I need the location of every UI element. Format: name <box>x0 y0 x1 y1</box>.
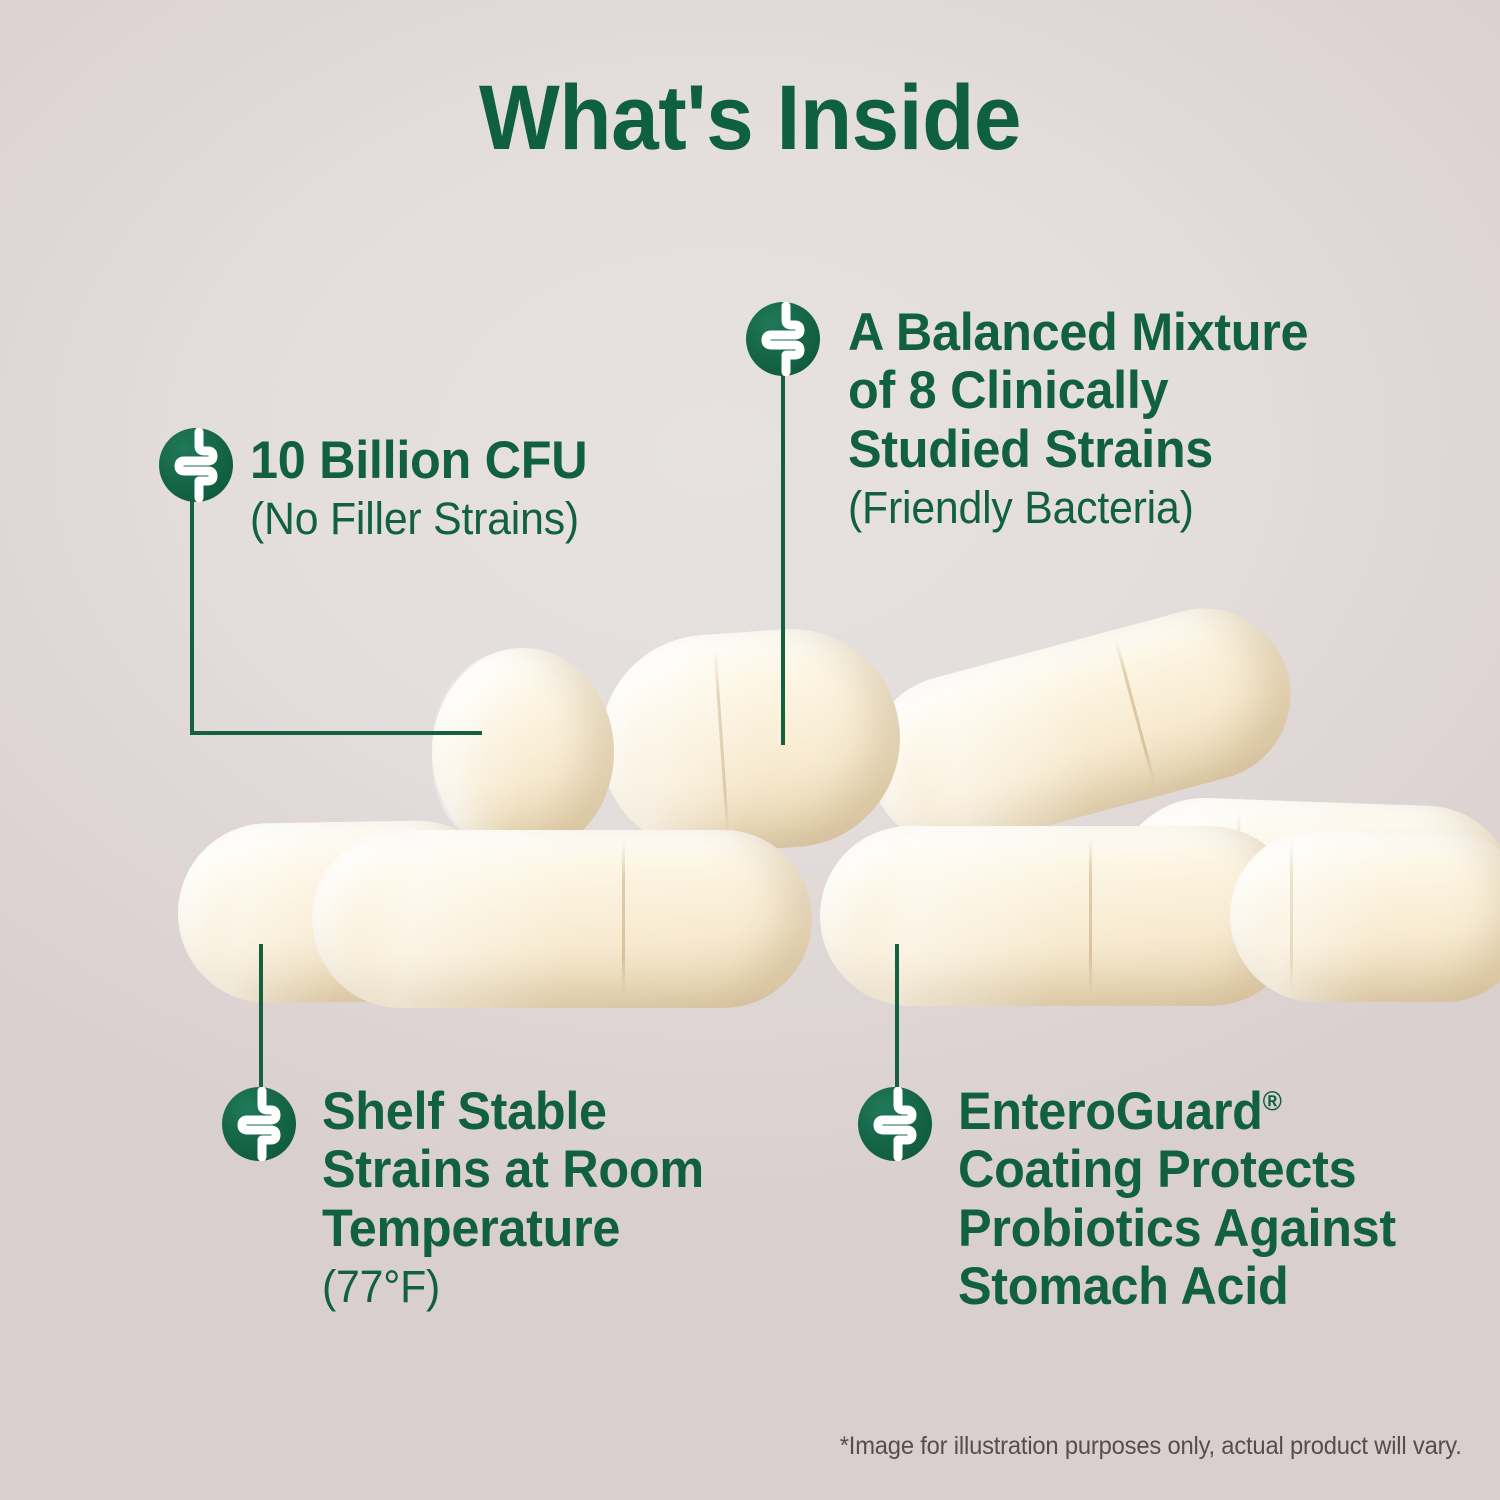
callout-enteroguard: EnteroGuard® Coating Protects Probiotics… <box>958 1083 1478 1316</box>
leader-line-enteroguard <box>895 944 899 1096</box>
callout-enteroguard-headline-line4: Stomach Acid <box>958 1258 1452 1316</box>
callout-strains-headline-line1: A Balanced Mixture <box>848 304 1380 362</box>
leader-line-cfu-horizontal <box>190 731 482 735</box>
callout-shelf-stable-headline-line3: Temperature <box>322 1200 769 1258</box>
callout-enteroguard-headline-line2: Coating Protects <box>958 1141 1452 1199</box>
gut-icon <box>159 428 233 502</box>
leader-line-cfu-vertical <box>190 495 194 735</box>
leader-line-shelf-stable <box>259 944 263 1096</box>
capsule-top-front <box>432 648 614 856</box>
gut-icon <box>746 302 820 376</box>
capsule-bottom-center <box>312 830 812 1008</box>
callout-shelf-stable: Shelf Stable Strains at Room Temperature… <box>322 1083 792 1312</box>
registered-trademark-icon: ® <box>1263 1085 1282 1116</box>
callout-strains-headline-line3: Studied Strains <box>848 421 1380 479</box>
whats-inside-infographic: What's Inside <box>0 0 1500 1500</box>
callout-strains-headline-line2: of 8 Clinically <box>848 362 1380 420</box>
callout-cfu: 10 Billion CFU (No Filler Strains) <box>250 432 720 545</box>
disclaimer-footnote: *Image for illustration purposes only, a… <box>840 1432 1462 1461</box>
capsule-bottom-right <box>820 826 1300 1006</box>
callout-enteroguard-brand: EnteroGuard <box>958 1082 1263 1141</box>
callout-strains: A Balanced Mixture of 8 Clinically Studi… <box>848 304 1408 533</box>
callout-cfu-headline: 10 Billion CFU <box>250 432 697 490</box>
callout-strains-subtext: (Friendly Bacteria) <box>848 483 1380 533</box>
capsule-pile-image <box>0 590 1500 1030</box>
capsule-bottom-far-right <box>1230 830 1500 1002</box>
gut-icon <box>222 1087 296 1161</box>
callout-shelf-stable-headline-line1: Shelf Stable <box>322 1083 769 1141</box>
page-title: What's Inside <box>53 72 1448 164</box>
callout-enteroguard-headline-line1: EnteroGuard® <box>958 1083 1452 1141</box>
callout-shelf-stable-headline-line2: Strains at Room <box>322 1141 769 1199</box>
callout-shelf-stable-subtext: (77°F) <box>322 1262 769 1312</box>
callout-enteroguard-headline-line3: Probiotics Against <box>958 1200 1452 1258</box>
callout-cfu-subtext: (No Filler Strains) <box>250 494 697 544</box>
leader-line-strains <box>781 370 785 745</box>
capsule-back-middle <box>593 622 907 860</box>
gut-icon <box>858 1087 932 1161</box>
